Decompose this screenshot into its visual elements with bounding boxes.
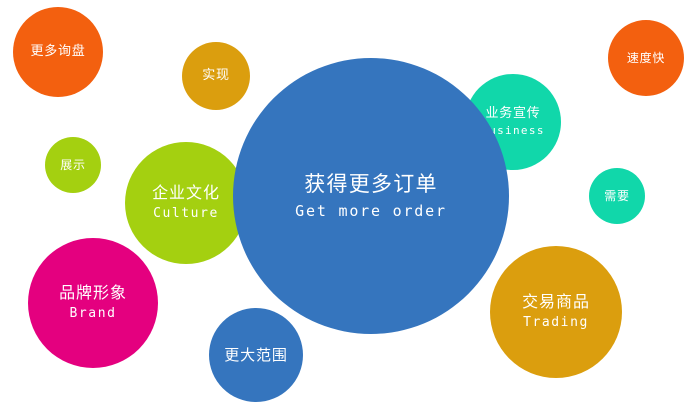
bubble-label-cn: 展示 [60, 158, 85, 173]
bubble-label-en: Culture [153, 206, 219, 222]
bubble-label-cn: 更大范围 [224, 346, 288, 365]
bubble-label-cn: 企业文化 [152, 183, 220, 203]
bubble-label-cn: 业务宣传 [485, 106, 540, 122]
bubble-label-cn: 实现 [202, 68, 230, 84]
bubble-label-cn: 交易商品 [522, 292, 590, 312]
bubble-label-cn: 速度快 [627, 51, 665, 66]
bubble-label-cn: 需要 [604, 189, 629, 204]
bubble-label-cn: 获得更多订单 [304, 171, 438, 197]
bubble-label-en: Trading [523, 315, 589, 331]
bubble-realize[interactable]: 实现 [182, 42, 250, 110]
bubble-get-more-order[interactable]: 获得更多订单Get more order [233, 58, 509, 334]
bubble-more-inquiries[interactable]: 更多询盘 [13, 7, 103, 97]
bubble-need[interactable]: 需要 [589, 168, 645, 224]
bubble-culture[interactable]: 企业文化Culture [125, 142, 247, 264]
bubble-brand[interactable]: 品牌形象Brand [28, 238, 158, 368]
bubble-diagram-canvas: 更多询盘实现速度快业务宣传Business展示企业文化Culture获得更多订单… [0, 0, 700, 416]
bubble-speed-fast[interactable]: 速度快 [608, 20, 684, 96]
bubble-label-cn: 品牌形象 [59, 283, 127, 303]
bubble-label-cn: 更多询盘 [30, 44, 85, 60]
bubble-wider-range[interactable]: 更大范围 [209, 308, 303, 402]
bubble-label-en: Get more order [295, 202, 447, 221]
bubble-trading[interactable]: 交易商品Trading [490, 246, 622, 378]
bubble-display[interactable]: 展示 [45, 137, 101, 193]
bubble-label-en: Brand [70, 306, 117, 322]
